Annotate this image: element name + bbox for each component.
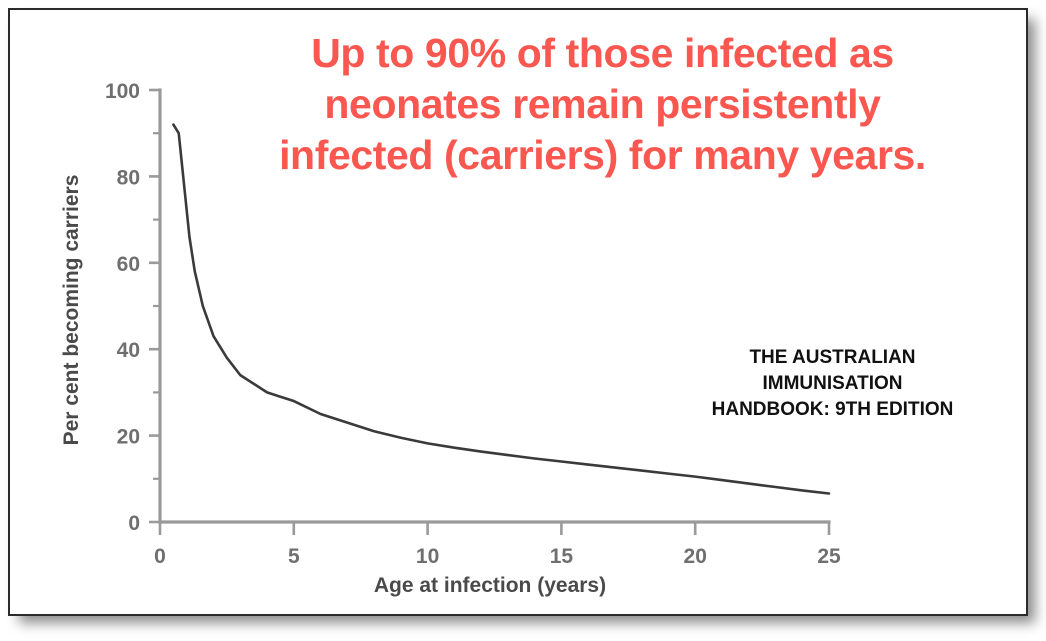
- y-tick-label: 60: [117, 253, 140, 276]
- y-tick-label: 0: [128, 512, 140, 535]
- y-axis-title: Per cent becoming carriers: [60, 175, 83, 446]
- y-tick-label: 40: [117, 339, 140, 362]
- x-tick-label: 25: [817, 545, 841, 568]
- x-tick-label: 0: [154, 545, 166, 568]
- x-axis-title: Age at infection (years): [374, 574, 606, 597]
- x-tick-label: 15: [550, 545, 574, 568]
- y-tick-label: 20: [117, 426, 140, 449]
- x-tick-label: 5: [288, 545, 300, 568]
- y-tick-label: 80: [117, 166, 140, 189]
- y-tick-label: 100: [105, 80, 140, 103]
- x-tick-label: 10: [416, 545, 439, 568]
- source-attribution: THE AUSTRALIAN IMMUNISATION HANDBOOK: 9T…: [650, 345, 1015, 423]
- headline-text: Up to 90% of those infected as neonates …: [180, 28, 1025, 181]
- x-tick-label: 20: [684, 545, 707, 568]
- slide-panel: 0204060801000510152025 Age at infection …: [8, 8, 1028, 616]
